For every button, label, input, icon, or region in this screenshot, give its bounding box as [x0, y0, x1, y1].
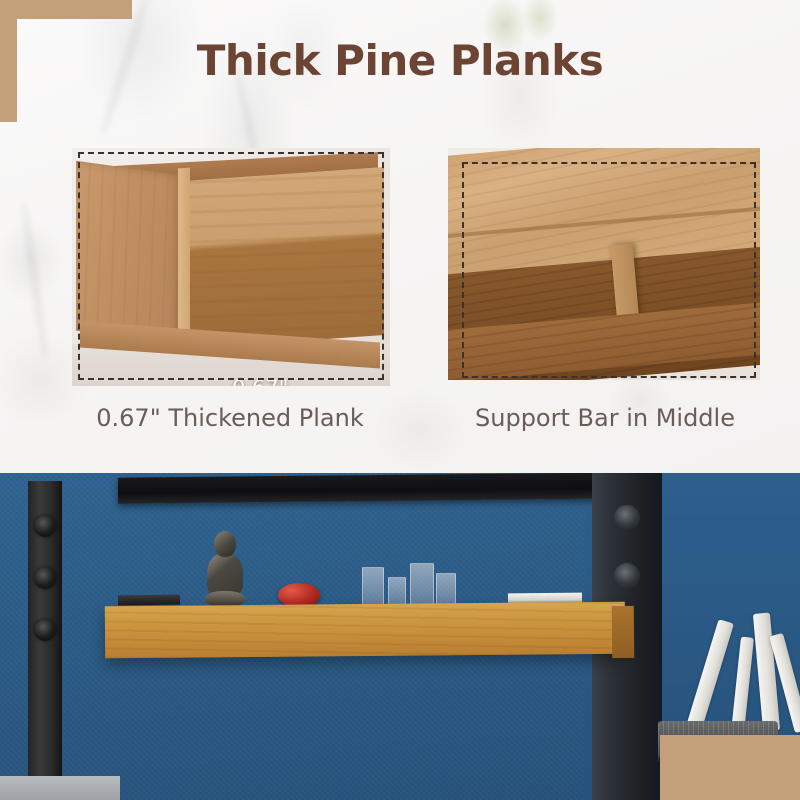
blueprint-roll — [686, 619, 734, 731]
page-title: Thick Pine Planks — [0, 36, 800, 85]
speaker-cone-icon — [34, 567, 56, 589]
floor-strip — [0, 776, 120, 800]
feature-section: Thick Pine Planks 0.67" — [0, 0, 800, 473]
rolled-blueprints — [650, 593, 800, 753]
speaker-cone-icon — [34, 515, 56, 537]
speaker-cone-icon — [34, 619, 56, 641]
pillar-hole-icon — [614, 505, 640, 531]
pillar-hole-icon — [614, 563, 640, 589]
box-side-panel — [76, 161, 180, 346]
branch-shadow-icon — [19, 200, 50, 360]
red-decor-object — [278, 583, 320, 607]
thickness-measure-label: 0.67" — [232, 376, 288, 386]
glass-holder — [362, 567, 384, 609]
feature-caption-left: 0.67" Thickened Plank — [40, 404, 420, 432]
shelf-end-cap — [612, 606, 634, 658]
blueprint-roll — [731, 637, 754, 734]
feature-photo-support-bar — [448, 148, 760, 380]
floating-wood-shelf — [105, 602, 625, 659]
plank-thickness-edge — [178, 168, 190, 347]
statue-head — [214, 531, 236, 557]
box-interior — [184, 167, 384, 349]
buddha-statue — [205, 531, 245, 609]
glass-holder — [410, 563, 434, 609]
infographic-page: Thick Pine Planks 0.67" — [0, 0, 800, 800]
feature-caption-right: Support Bar in Middle — [420, 404, 790, 432]
blueprint-roll — [753, 612, 780, 731]
corner-accent-block — [660, 735, 800, 800]
speaker-column-left — [28, 481, 62, 800]
glass-candle-holders — [362, 561, 458, 609]
bracket-arm-horizontal — [0, 0, 132, 19]
feature-photo-thickened-plank: 0.67" — [72, 148, 390, 386]
shelf-tray — [118, 595, 180, 606]
